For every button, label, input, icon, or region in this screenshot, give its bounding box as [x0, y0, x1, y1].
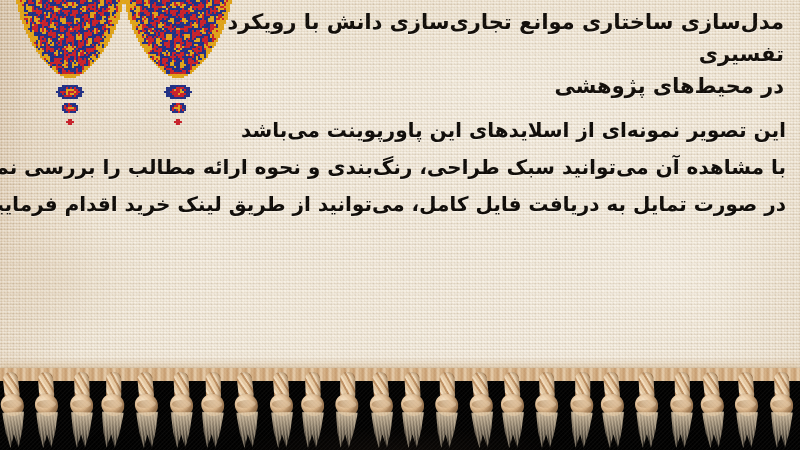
tassel-fluff: [201, 412, 224, 449]
tassel-fluff: [569, 411, 593, 448]
tassel-fluff: [70, 412, 93, 448]
tassel-fluff: [471, 411, 495, 448]
title-line-1: مدل‌سازی ساختاری موانع تجاری‌سازی دانش ب…: [224, 6, 784, 70]
medallion-pixel-art-left: [16, 0, 124, 80]
carpet-tassel: [129, 371, 166, 448]
tassel-fluff: [402, 412, 424, 448]
body-line-1: این تصویر نمونه‌ای از اسلایدهای این پاور…: [14, 112, 786, 149]
medallion-body-left: [16, 0, 124, 80]
body-line-2: با مشاهده آن می‌توانید سبک طراحی، رنگ‌بن…: [14, 149, 786, 186]
carpet-medallion-ornament-right: [124, 0, 232, 127]
tassel-fluff: [669, 412, 692, 449]
carpet-tassel: [295, 372, 330, 449]
slide-title: مدل‌سازی ساختاری موانع تجاری‌سازی دانش ب…: [224, 6, 784, 102]
tassel-fluff: [271, 412, 294, 448]
tassel-fluff: [2, 411, 26, 448]
tassel-fluff: [136, 412, 159, 449]
tassel-fluff: [602, 412, 625, 449]
carpet-tassel: [30, 372, 65, 449]
carpet-fringe-band: [0, 368, 800, 450]
tassel-fluff: [770, 412, 793, 448]
body-line-3: در صورت تمایل به دریافت فایل کامل، می‌تو…: [14, 186, 786, 223]
tassel-fluff: [636, 412, 658, 448]
tassel-fluff: [301, 412, 324, 448]
carpet-tassel: [764, 372, 799, 449]
medallion-body-right: [124, 0, 232, 80]
carpet-tassel: [595, 371, 632, 448]
carpet-tassel: [94, 371, 132, 449]
tassel-fluff: [334, 411, 358, 448]
medallion-pixel-art-right: [124, 0, 232, 80]
tassel-fluff: [536, 412, 559, 448]
carpet-tassel: [396, 372, 430, 448]
title-line-2: در محیط‌های پژوهشی: [224, 70, 784, 102]
tassel-fluff: [171, 412, 193, 448]
carpet-tassel: [0, 371, 32, 449]
tassel-fluff: [100, 411, 124, 448]
carpet-tassel: [630, 372, 664, 448]
carpet-tassel: [730, 372, 765, 449]
tassel-fluff: [371, 412, 394, 449]
slide-body: این تصویر نمونه‌ای از اسلایدهای این پاور…: [14, 112, 786, 223]
carpet-tassel: [328, 371, 366, 449]
tassel-row: [0, 372, 800, 450]
carpet-tassel: [495, 372, 530, 449]
carpet-tassel: [228, 371, 266, 449]
carpet-medallion-ornament-left: [16, 0, 124, 127]
tassel-fluff: [736, 412, 759, 448]
tassel-fluff: [236, 411, 260, 448]
carpet-tassel: [363, 371, 400, 448]
tassel-fluff: [36, 412, 59, 448]
carpet-tassel: [195, 371, 232, 448]
carpet-tassel: [530, 372, 565, 449]
tassel-fluff: [435, 412, 458, 449]
presentation-slide: مدل‌سازی ساختاری موانع تجاری‌سازی دانش ب…: [0, 0, 800, 450]
tassel-fluff: [702, 411, 726, 448]
carpet-tassel: [165, 372, 199, 448]
tassel-fluff: [502, 412, 525, 448]
carpet-tassel: [694, 371, 732, 449]
carpet-tassel: [264, 372, 299, 449]
carpet-tassel: [429, 371, 466, 448]
